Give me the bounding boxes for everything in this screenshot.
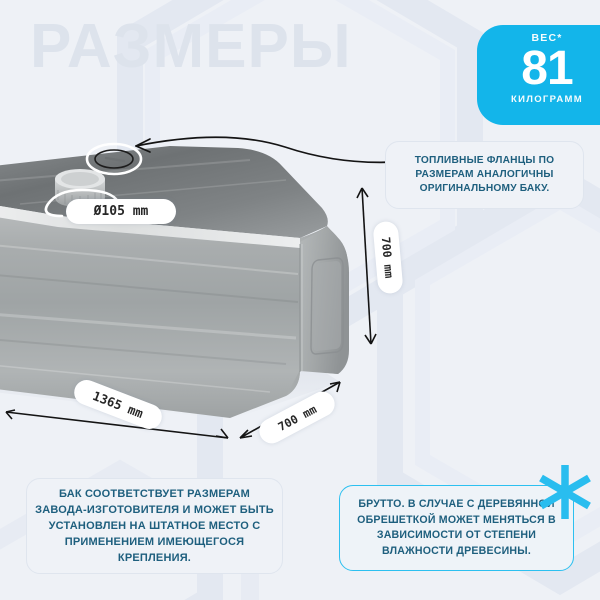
weight-badge-label: ВЕС* xyxy=(477,32,600,44)
weight-badge-value: 81 xyxy=(477,44,600,94)
callout-left-note: БАК СООТВЕТСТВУЕТ РАЗМЕРАМ ЗАВОДА-ИЗГОТО… xyxy=(26,478,283,574)
callout-flange-note: ТОПЛИВНЫЕ ФЛАНЦЫ ПО РАЗМЕРАМ АНАЛОГИЧНЫ … xyxy=(385,141,584,209)
page-title: РАЗМЕРЫ xyxy=(30,16,352,78)
curved-arrow-icon xyxy=(110,125,420,180)
callout-flange-text: ТОПЛИВНЫЕ ФЛАНЦЫ ПО РАЗМЕРАМ АНАЛОГИЧНЫ … xyxy=(386,154,583,196)
infographic-canvas: РАЗМЕРЫ ВЕС* 81 КИЛОГРАММ xyxy=(0,0,600,600)
weight-badge: ВЕС* 81 КИЛОГРАММ xyxy=(477,25,600,125)
dimension-filler-diameter: Ø105 mm xyxy=(66,199,176,224)
callout-left-text: БАК СООТВЕТСТВУЕТ РАЗМЕРАМ ЗАВОДА-ИЗГОТО… xyxy=(27,486,282,566)
weight-badge-unit: КИЛОГРАММ xyxy=(477,94,600,105)
asterisk-icon xyxy=(536,463,594,521)
